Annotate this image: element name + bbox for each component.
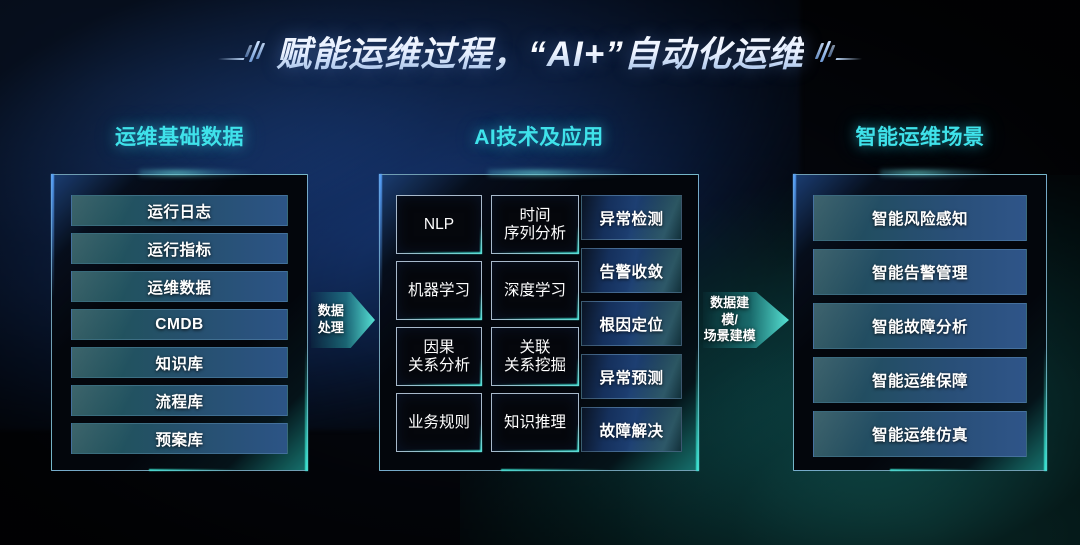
capability-card[interactable]: 故障解决 bbox=[581, 407, 682, 452]
scenario-item-label: 智能故障分析 bbox=[872, 315, 968, 337]
panel-aiops-scenarios: 智能风险感知 智能告警管理 智能故障分析 智能运维保障 智能运维仿真 bbox=[793, 174, 1047, 471]
capability-card-label: 异常预测 bbox=[599, 366, 663, 388]
scenario-item[interactable]: 智能风险感知 bbox=[813, 195, 1027, 241]
list-item-label: 运行日志 bbox=[147, 200, 211, 222]
list-item-label: 流程库 bbox=[155, 390, 203, 412]
grid-item-label: 深度学习 bbox=[504, 282, 566, 300]
list-item[interactable]: CMDB bbox=[71, 309, 288, 340]
list-item[interactable]: 运行日志 bbox=[71, 195, 288, 226]
list-item-label: CMDB bbox=[155, 316, 204, 334]
list-item-label: 知识库 bbox=[155, 352, 203, 374]
scenario-item-label: 智能运维仿真 bbox=[872, 423, 968, 445]
grid-item[interactable]: 时间 序列分析 bbox=[491, 195, 579, 254]
arrow-data-processing: 数据 处理 bbox=[311, 292, 375, 348]
grid-item[interactable]: 因果 关系分析 bbox=[396, 327, 482, 386]
grid-item-label: NLP bbox=[424, 216, 454, 234]
pill-stack-right: 智能风险感知 智能告警管理 智能故障分析 智能运维保障 智能运维仿真 bbox=[813, 195, 1027, 450]
list-item[interactable]: 运维数据 bbox=[71, 271, 288, 302]
list-item-label: 运行指标 bbox=[147, 238, 211, 260]
capability-card[interactable]: 告警收敛 bbox=[581, 248, 682, 293]
list-ai-capabilities: 异常检测 告警收敛 根因定位 异常预测 故障解决 bbox=[581, 195, 682, 452]
scenario-item-label: 智能告警管理 bbox=[872, 261, 968, 283]
capability-card[interactable]: 异常预测 bbox=[581, 354, 682, 399]
capability-card-label: 故障解决 bbox=[599, 419, 663, 441]
grid-item[interactable]: NLP bbox=[396, 195, 482, 254]
column-heading-scenarios: 智能运维场景 bbox=[793, 121, 1047, 151]
grid-item[interactable]: 机器学习 bbox=[396, 261, 482, 320]
grid-item[interactable]: 知识推理 bbox=[491, 393, 579, 452]
scenario-item-label: 智能运维保障 bbox=[872, 369, 968, 391]
column-heading-ai: AI技术及应用 bbox=[379, 121, 699, 151]
column-heading-data: 运维基础数据 bbox=[51, 121, 308, 151]
list-item-label: 预案库 bbox=[155, 428, 203, 450]
diagram-stage: 运维基础数据 运行日志 运行指标 运维数据 CMDB 知识库 流程库 预案库 数… bbox=[0, 0, 1080, 545]
capability-card[interactable]: 根因定位 bbox=[581, 301, 682, 346]
panel-ai-tech: NLP 时间 序列分析 机器学习 深度学习 因果 关系分析 关联 关系挖掘 业务… bbox=[379, 174, 699, 471]
arrow-data-modeling: 数据建模/ 场景建模 bbox=[703, 292, 789, 348]
panel-ops-data: 运行日志 运行指标 运维数据 CMDB 知识库 流程库 预案库 bbox=[51, 174, 308, 471]
list-item[interactable]: 预案库 bbox=[71, 423, 288, 454]
list-item-label: 运维数据 bbox=[147, 276, 211, 298]
list-item[interactable]: 运行指标 bbox=[71, 233, 288, 264]
arrow-label: 数据 处理 bbox=[311, 303, 351, 336]
grid-item-label: 知识推理 bbox=[504, 414, 566, 432]
grid-item[interactable]: 深度学习 bbox=[491, 261, 579, 320]
grid-item-label: 因果 关系分析 bbox=[408, 339, 470, 375]
list-item[interactable]: 流程库 bbox=[71, 385, 288, 416]
grid-item-label: 机器学习 bbox=[408, 282, 470, 300]
grid-item-label: 业务规则 bbox=[408, 414, 470, 432]
grid-item[interactable]: 业务规则 bbox=[396, 393, 482, 452]
capability-card-label: 告警收敛 bbox=[599, 260, 663, 282]
grid-item-label: 关联 关系挖掘 bbox=[504, 339, 566, 375]
capability-card[interactable]: 异常检测 bbox=[581, 195, 682, 240]
scenario-item[interactable]: 智能告警管理 bbox=[813, 249, 1027, 295]
scenario-item[interactable]: 智能故障分析 bbox=[813, 303, 1027, 349]
grid-item[interactable]: 关联 关系挖掘 bbox=[491, 327, 579, 386]
capability-card-label: 异常检测 bbox=[599, 207, 663, 229]
arrow-label: 数据建模/ 场景建模 bbox=[703, 295, 756, 345]
capability-card-label: 根因定位 bbox=[599, 313, 663, 335]
grid-item-label: 时间 序列分析 bbox=[504, 207, 566, 243]
grid-ai-methods: NLP 时间 序列分析 机器学习 深度学习 因果 关系分析 关联 关系挖掘 业务… bbox=[396, 195, 579, 452]
scenario-item-label: 智能风险感知 bbox=[872, 207, 968, 229]
pill-stack-left: 运行日志 运行指标 运维数据 CMDB 知识库 流程库 预案库 bbox=[71, 195, 288, 450]
scenario-item[interactable]: 智能运维保障 bbox=[813, 357, 1027, 403]
list-item[interactable]: 知识库 bbox=[71, 347, 288, 378]
scenario-item[interactable]: 智能运维仿真 bbox=[813, 411, 1027, 457]
